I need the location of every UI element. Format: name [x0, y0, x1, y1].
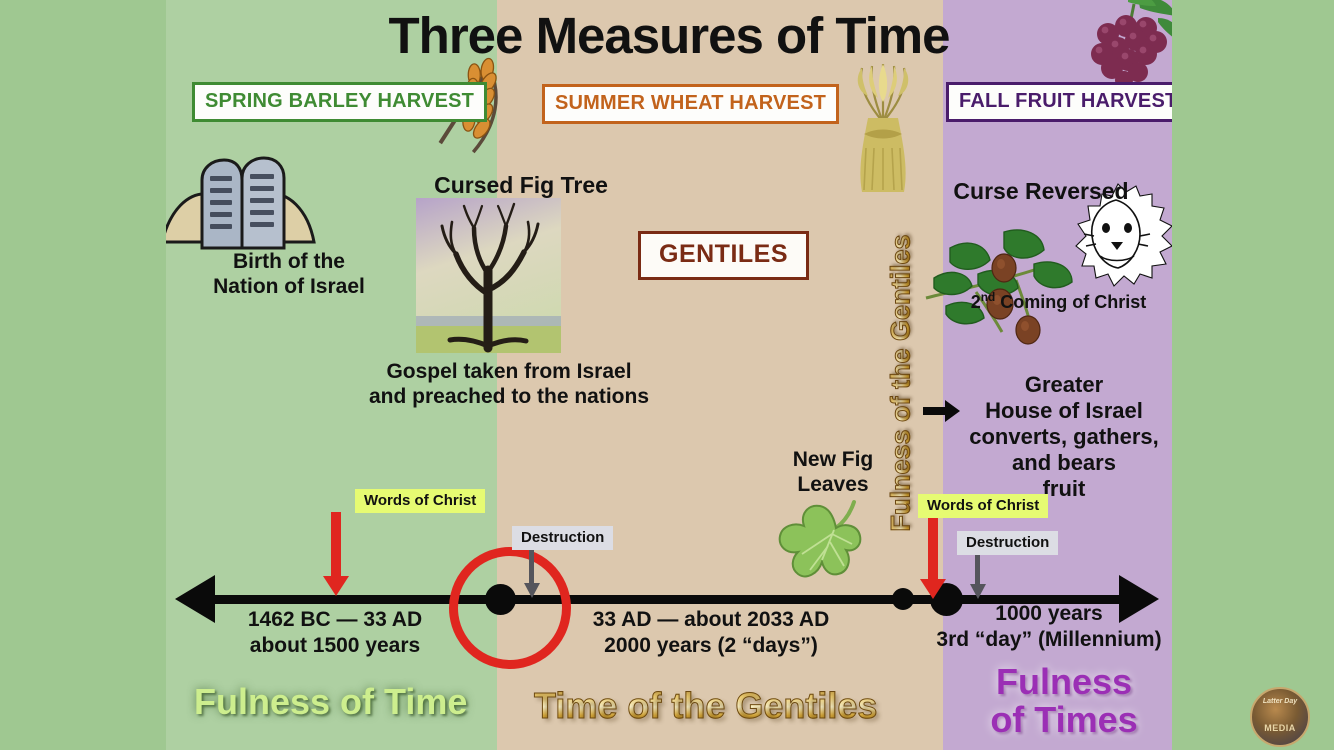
- label-new-fig-leaves: New Fig Leaves: [773, 448, 893, 498]
- birth-line-2: Nation of Israel: [174, 275, 404, 300]
- arrow-head: [524, 583, 540, 598]
- callout-destruction-1[interactable]: Destruction: [512, 526, 613, 550]
- second-coming-suffix: nd: [981, 290, 996, 304]
- watermark-bottom-text: MEDIA: [1252, 723, 1308, 733]
- era-3-line-1: Fulness: [964, 663, 1164, 701]
- second-coming-numeral: 2: [971, 292, 981, 312]
- slide-canvas: Three Measures of Time: [0, 0, 1334, 750]
- greater-line-1: Greater: [958, 372, 1170, 398]
- page-title: Three Measures of Time: [166, 6, 1172, 65]
- watermark-top-text: Latter Day: [1252, 698, 1308, 705]
- destruction-arrow-1-icon: [529, 550, 534, 598]
- callout-words-of-christ-1[interactable]: Words of Christ: [355, 489, 485, 513]
- callout-words-of-christ-2[interactable]: Words of Christ: [918, 494, 1048, 518]
- timeline-marker-fulness-of-gentiles[interactable]: [892, 588, 914, 610]
- timeline-period-1: 1462 BC — 33 AD about 1500 years: [202, 607, 468, 660]
- gentiles-box[interactable]: GENTILES: [638, 231, 809, 280]
- gospel-line-1: Gospel taken from Israel: [334, 360, 684, 385]
- callout-destruction-2[interactable]: Destruction: [957, 531, 1058, 555]
- badge-fall-fruit-harvest[interactable]: FALL FRUIT HARVEST: [946, 82, 1172, 122]
- stone-tablets-icon: [166, 150, 326, 260]
- period-2-range: 33 AD — about 2033 AD: [561, 607, 861, 633]
- destruction-arrow-2-icon: [975, 555, 980, 599]
- infographic-slide: Three Measures of Time: [166, 0, 1172, 750]
- arrow-shaft: [529, 550, 534, 584]
- period-3-duration: 3rd “day” (Millennium): [926, 627, 1172, 653]
- watermark-logo: Latter Day MEDIA: [1250, 687, 1310, 747]
- new-fig-line-1: New Fig: [773, 448, 893, 473]
- new-fig-line-2: Leaves: [773, 473, 893, 498]
- label-cursed-fig-tree: Cursed Fig Tree: [381, 172, 661, 199]
- label-curse-reversed: Curse Reversed: [911, 178, 1171, 205]
- era-title-fulness-of-times: Fulness of Times: [964, 663, 1164, 739]
- gospel-line-2: and preached to the nations: [334, 385, 684, 410]
- right-arrow-icon: [923, 398, 961, 424]
- new-fig-leaf-icon: [766, 496, 886, 592]
- birth-line-1: Birth of the: [174, 250, 404, 275]
- cursed-fig-tree-image: [416, 198, 561, 353]
- arrow-head: [970, 584, 986, 599]
- fulness-of-gentiles-text: Fulness of the Gentiles: [886, 234, 917, 531]
- era-title-time-of-the-gentiles: Time of the Gentiles: [534, 685, 877, 727]
- era-title-fulness-of-time: Fulness of Time: [194, 681, 467, 723]
- greater-line-3: converts, gathers,: [958, 424, 1170, 450]
- period-3-range: 1000 years: [926, 601, 1172, 627]
- label-fulness-of-the-gentiles-vertical: Fulness of the Gentiles: [881, 248, 921, 518]
- words-of-christ-arrow-2-icon: [928, 517, 938, 599]
- period-1-range: 1462 BC — 33 AD: [202, 607, 468, 633]
- wheat-sheaf-icon: [828, 52, 938, 197]
- words-of-christ-arrow-1-icon: [331, 512, 341, 596]
- arrow-shaft: [331, 512, 341, 578]
- label-second-coming-of-christ: 2nd Coming of Christ: [956, 290, 1161, 313]
- label-gospel-taken-from-israel: Gospel taken from Israel and preached to…: [334, 360, 684, 410]
- arrow-head: [323, 576, 349, 596]
- arrow-head: [920, 579, 946, 599]
- period-2-duration: 2000 years (2 “days”): [561, 633, 861, 659]
- greater-line-4: and bears: [958, 450, 1170, 476]
- timeline-period-2: 33 AD — about 2033 AD 2000 years (2 “day…: [561, 607, 861, 660]
- badge-summer-wheat-harvest[interactable]: SUMMER WHEAT HARVEST: [542, 84, 839, 124]
- period-1-duration: about 1500 years: [202, 633, 468, 659]
- badge-spring-barley-harvest[interactable]: SPRING BARLEY HARVEST: [192, 82, 487, 122]
- label-greater-house-of-israel: Greater House of Israel converts, gather…: [958, 372, 1170, 502]
- era-3-line-2: of Times: [964, 701, 1164, 739]
- timeline-period-3: 1000 years 3rd “day” (Millennium): [926, 601, 1172, 654]
- second-coming-text: Coming of Christ: [995, 292, 1146, 312]
- arrow-shaft: [975, 555, 980, 585]
- label-birth-of-nation: Birth of the Nation of Israel: [174, 250, 404, 300]
- arrow-shaft: [928, 517, 938, 581]
- greater-line-2: House of Israel: [958, 398, 1170, 424]
